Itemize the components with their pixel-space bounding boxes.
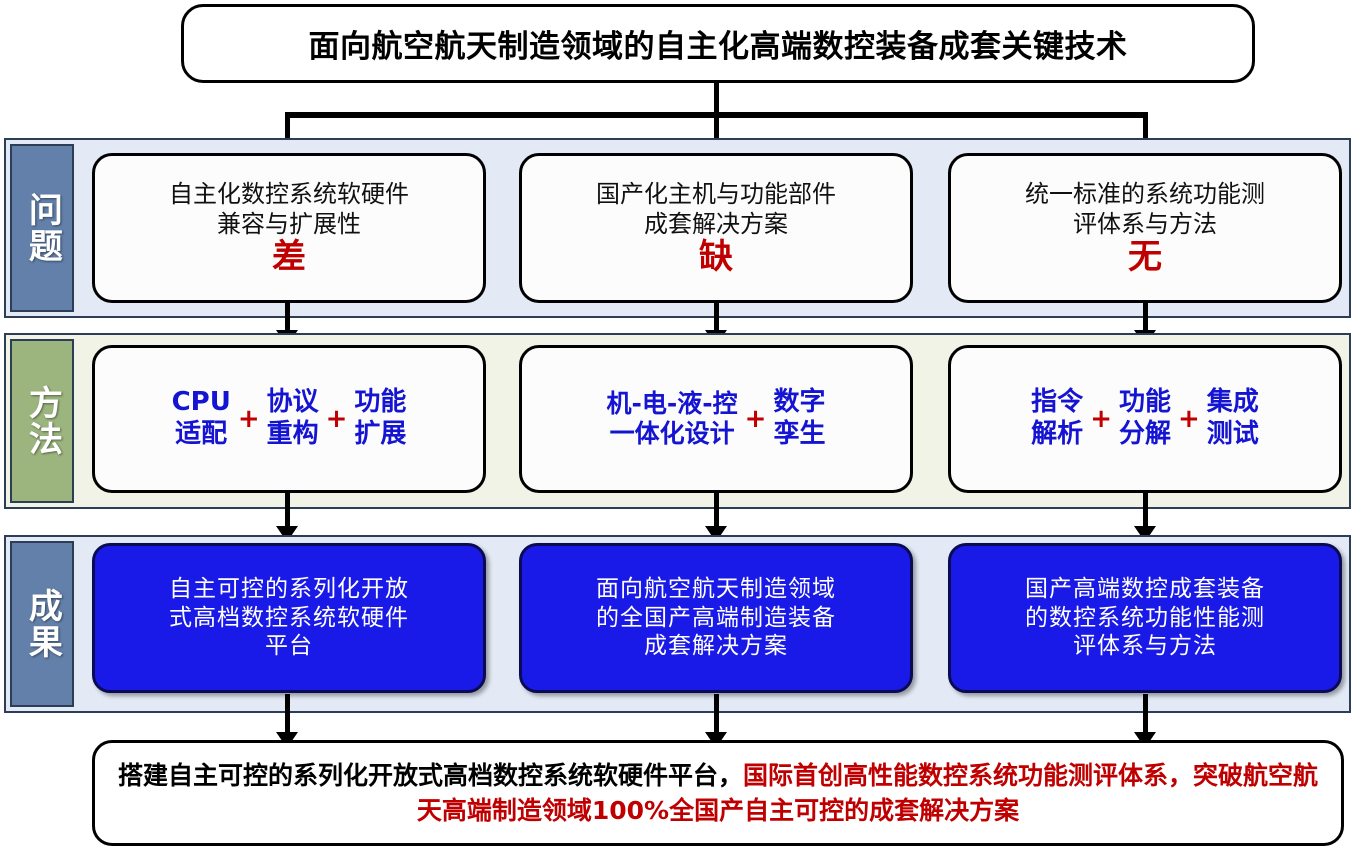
method-card-2[interactable]: 机-电-液-控 一体化设计 + 数字 孪生 [519,345,913,493]
problem-card-2[interactable]: 国产化主机与功能部件 成套解决方案 缺 [519,153,913,303]
problem-card-3-mark: 无 [1128,240,1162,276]
method-card-3-term-3: 集成 测试 [1207,387,1259,450]
result-card-1-content: 自主可控的系列化开放 式高档数控系统软硬件 平台 [169,575,409,661]
problem-card-3-line2: 评体系与方法 [1073,210,1217,238]
problem-card-2-mark: 缺 [699,240,733,276]
row-label-method: 方法 [10,339,74,503]
method-card-3-term-1-line1: 指令 [1031,387,1083,419]
connector-title-to-problem-1 [285,112,290,141]
result-card-3-line2: 的数控系统功能性能测 [1025,604,1265,633]
problem-card-1-line1: 自主化数控系统软硬件 [169,180,409,208]
method-card-3-plus-2: + [1171,404,1207,434]
method-card-3-term-2-line2: 分解 [1119,419,1171,451]
result-card-3-content: 国产高端数控成套装备 的数控系统功能性能测 评体系与方法 [1025,575,1265,661]
result-card-3-line1: 国产高端数控成套装备 [1025,575,1265,604]
method-card-3-plus-1: + [1083,404,1119,434]
method-card-2-term-2-line2: 孪生 [773,419,825,451]
problem-card-2-content: 国产化主机与功能部件 成套解决方案 缺 [596,180,836,275]
result-card-2-line1: 面向航空航天制造领域 [596,575,836,604]
method-card-1-plus-2: + [319,404,355,434]
problem-card-3-content: 统一标准的系统功能测 评体系与方法 无 [1025,180,1265,275]
method-card-1-term-2-line1: 协议 [267,387,319,419]
diagram-title-box: 面向航空航天制造领域的自主化高端数控装备成套关键技术 [181,4,1255,83]
method-card-1-content: CPU 适配 + 协议 重构 + 功能 扩展 [172,387,407,450]
method-card-3-term-1: 指令 解析 [1031,387,1083,450]
problem-card-1-line2: 兼容与扩展性 [217,210,361,238]
problem-card-3-line1: 统一标准的系统功能测 [1025,180,1265,208]
result-card-1-line1: 自主可控的系列化开放 [169,575,409,604]
connector-title-to-problem-2 [714,112,719,141]
method-card-1-plus-1: + [231,404,267,434]
row-label-result: 成果 [10,541,74,707]
connector-title-to-problem-3 [1143,112,1148,141]
method-card-1-term-3-line2: 扩展 [354,419,406,451]
method-card-3-content: 指令 解析 + 功能 分解 + 集成 测试 [1031,387,1259,450]
method-card-1-term-2-line2: 重构 [267,419,319,451]
method-card-3-term-2: 功能 分解 [1119,387,1171,450]
conclusion-box[interactable]: 搭建自主可控的系列化开放式高档数控系统软硬件平台，国际首创高性能数控系统功能测评… [92,740,1344,846]
problem-card-1-mark: 差 [272,240,306,276]
method-card-1-term-1-line1: CPU [172,387,231,419]
method-card-1-term-1-line2: 适配 [175,419,227,451]
result-card-2-line3: 成套解决方案 [644,632,788,661]
problem-card-2-line1: 国产化主机与功能部件 [596,180,836,208]
method-card-2-term-1: 机-电-液-控 一体化设计 [607,389,738,450]
result-card-1-line3: 平台 [265,632,313,661]
method-card-2-content: 机-电-液-控 一体化设计 + 数字 孪生 [607,387,826,450]
result-card-3-line3: 评体系与方法 [1073,632,1217,661]
method-card-3-term-1-line2: 解析 [1031,419,1083,451]
method-card-2-plus-1: + [738,404,774,434]
result-card-2[interactable]: 面向航空航天制造领域 的全国产高端制造装备 成套解决方案 [519,543,913,693]
method-card-1-term-3: 功能 扩展 [354,387,406,450]
problem-card-2-line2: 成套解决方案 [644,210,788,238]
result-card-1-line2: 式高档数控系统软硬件 [169,604,409,633]
problem-card-1[interactable]: 自主化数控系统软硬件 兼容与扩展性 差 [92,153,486,303]
diagram-canvas: 面向航空航天制造领域的自主化高端数控装备成套关键技术 问题 自主化数控系统软硬件… [0,0,1355,853]
method-card-2-term-2: 数字 孪生 [773,387,825,450]
result-card-2-content: 面向航空航天制造领域 的全国产高端制造装备 成套解决方案 [596,575,836,661]
result-card-3[interactable]: 国产高端数控成套装备 的数控系统功能性能测 评体系与方法 [948,543,1342,693]
diagram-title-text: 面向航空航天制造领域的自主化高端数控装备成套关键技术 [309,21,1128,66]
method-card-1-term-3-line1: 功能 [354,387,406,419]
problem-card-1-content: 自主化数控系统软硬件 兼容与扩展性 差 [169,180,409,275]
conclusion-black-part: 搭建自主可控的系列化开放式高档数控系统软硬件平台， [118,761,743,790]
method-card-1[interactable]: CPU 适配 + 协议 重构 + 功能 扩展 [92,345,486,493]
result-card-1[interactable]: 自主可控的系列化开放 式高档数控系统软硬件 平台 [92,543,486,693]
method-card-3-term-2-line1: 功能 [1119,387,1171,419]
method-card-2-term-2-line1: 数字 [773,387,825,419]
conclusion-text: 搭建自主可控的系列化开放式高档数控系统软硬件平台，国际首创高性能数控系统功能测评… [109,758,1327,829]
method-card-3-term-3-line2: 测试 [1207,419,1259,451]
row-label-problem: 问题 [10,144,74,312]
method-card-1-term-2: 协议 重构 [267,387,319,450]
problem-card-3[interactable]: 统一标准的系统功能测 评体系与方法 无 [948,153,1342,303]
result-card-2-line2: 的全国产高端制造装备 [596,604,836,633]
method-card-2-term-1-line1: 机-电-液-控 [607,389,738,420]
method-card-1-term-1: CPU 适配 [172,387,231,450]
method-card-3[interactable]: 指令 解析 + 功能 分解 + 集成 测试 [948,345,1342,493]
method-card-3-term-3-line1: 集成 [1207,387,1259,419]
method-card-2-term-1-line2: 一体化设计 [610,419,735,450]
